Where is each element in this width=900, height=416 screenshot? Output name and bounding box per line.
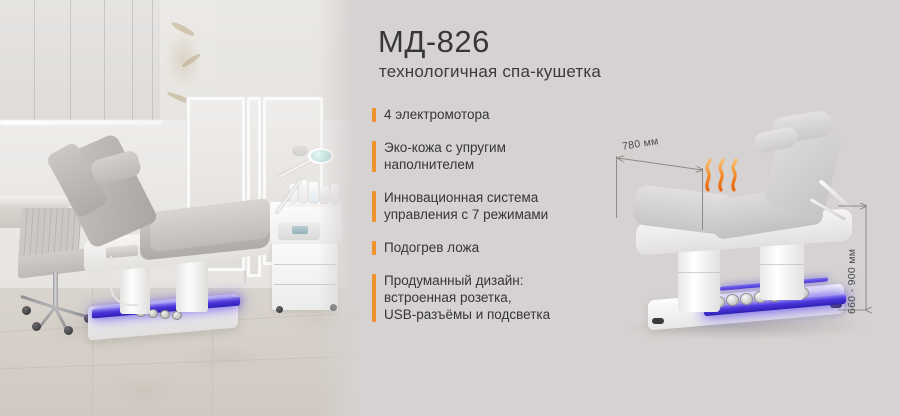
bullet-marker bbox=[372, 141, 376, 172]
feature-line: наполнителем bbox=[384, 156, 617, 173]
counter-top bbox=[0, 196, 74, 206]
bullet-marker bbox=[372, 241, 376, 255]
feature-item-motors: 4 электромотора bbox=[372, 106, 617, 123]
feature-item-design: Продуманный дизайн: встроенная розетка, … bbox=[372, 272, 617, 323]
feature-line: Инновационная система bbox=[384, 189, 617, 206]
feature-line: 4 электромотора bbox=[384, 106, 617, 123]
product-render: 780 мм 660 - 900 мм bbox=[600, 96, 900, 356]
wall-led-cove bbox=[0, 120, 162, 125]
photo-fade-edge bbox=[318, 0, 360, 416]
feature-item-control-system: Инновационная система управления с 7 реж… bbox=[372, 189, 617, 223]
feature-list: 4 электромотора Эко-кожа с упругим напол… bbox=[372, 106, 617, 323]
feature-line: управления с 7 режимами bbox=[384, 206, 617, 223]
feature-line: Подогрев ложа bbox=[384, 239, 617, 256]
device-screen bbox=[292, 226, 308, 234]
feature-item-heated-bed: Подогрев ложа bbox=[372, 239, 617, 256]
page-subtitle: технологичная спа-кушетка bbox=[379, 62, 601, 82]
stool-post bbox=[53, 272, 58, 308]
lamp-head bbox=[292, 145, 308, 156]
feature-item-eco-leather: Эко-кожа с упругим наполнителем bbox=[372, 139, 617, 173]
feature-line: USB-разъёмы и подсветка bbox=[384, 306, 617, 323]
bullet-marker bbox=[372, 108, 376, 122]
heat-waves-icon bbox=[702, 158, 744, 192]
page-title: МД-826 bbox=[378, 24, 490, 60]
product-banner: МД-826 технологичная спа-кушетка 4 элект… bbox=[0, 0, 900, 416]
wall-cabinets bbox=[0, 0, 168, 126]
dimension-height-label: 660 - 900 мм bbox=[846, 249, 858, 314]
feature-line: встроенная розетка, bbox=[384, 289, 617, 306]
bullet-marker bbox=[372, 274, 376, 322]
bullet-marker bbox=[372, 191, 376, 222]
remote-cord bbox=[110, 256, 138, 306]
feature-line: Эко-кожа с упругим bbox=[384, 139, 617, 156]
feature-line: Продуманный дизайн: bbox=[384, 272, 617, 289]
spa-room-photo bbox=[0, 0, 360, 416]
